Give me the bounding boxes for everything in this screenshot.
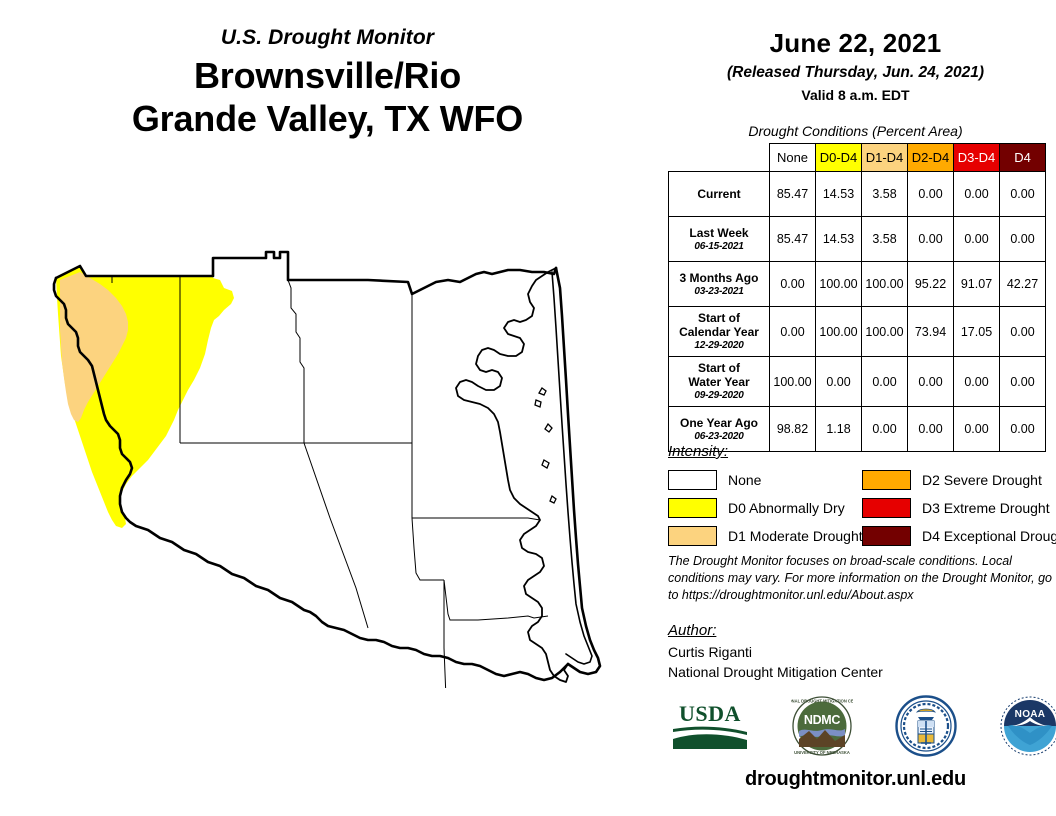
page-title-line2: Grande Valley, TX WFO [0,98,655,140]
map-title-block: U.S. Drought Monitor Brownsville/Rio Gra… [0,26,655,140]
table-cell: 73.94 [908,307,954,357]
table-cell: 0.00 [954,172,1000,217]
table-header-row: NoneD0-D4D1-D4D2-D4D3-D4D4 [669,144,1046,172]
date-block: June 22, 2021 (Released Thursday, Jun. 2… [655,28,1056,103]
table-cell: 85.47 [770,172,816,217]
table-row: Start ofCalendar Year12-29-20200.00100.0… [669,307,1046,357]
table-cell: 0.00 [1000,172,1046,217]
legend-swatch [668,498,717,518]
table-cell: 3.58 [862,172,908,217]
table-cell: 0.00 [770,262,816,307]
table-cell: 100.00 [816,307,862,357]
table-col-header-none: None [770,144,816,172]
table-cell: 14.53 [816,172,862,217]
table-cell: 100.00 [816,262,862,307]
table-cell: 0.00 [816,357,862,407]
noaa-logo: NOAA [999,695,1056,762]
table-row-date: 06-23-2020 [671,431,767,443]
legend-label: D4 Exceptional Drought [922,528,1056,544]
author-name: Curtis Riganti [668,643,1056,663]
table-row-date: 09-29-2020 [671,390,767,402]
legend-label: D0 Abnormally Dry [728,500,845,516]
table-cell: 91.07 [954,262,1000,307]
table-cell: 0.00 [1000,357,1046,407]
table-cell: 100.00 [862,262,908,307]
table-row: 3 Months Ago03-23-20210.00100.00100.0095… [669,262,1046,307]
table-col-header-d2-d4: D2-D4 [908,144,954,172]
intensity-legend-title: Intensity: [668,443,1056,460]
usda-logo: USDA [671,699,749,758]
table-cell: 95.22 [908,262,954,307]
legend-swatch [862,498,911,518]
svg-text:USDA: USDA [679,701,741,726]
legend-item: D2 Severe Drought [862,467,1056,492]
table-cell: 100.00 [862,307,908,357]
website-url[interactable]: droughtmonitor.unl.edu [655,768,1056,791]
table-cell: 0.00 [954,217,1000,262]
legend-swatch [668,470,717,490]
legend-label: D2 Severe Drought [922,472,1042,488]
table-col-header-d1-d4: D1-D4 [862,144,908,172]
legend-label: D3 Extreme Drought [922,500,1050,516]
page-title-line1: Brownsville/Rio [194,55,461,96]
legend-item: D4 Exceptional Drought [862,523,1056,548]
table-cell: 0.00 [908,357,954,407]
table-col-header-d3-d4: D3-D4 [954,144,1000,172]
svg-text:NDMC: NDMC [804,713,841,727]
legend-label: D1 Moderate Drought [728,528,863,544]
laguna-islets [535,388,556,503]
author-affiliation: National Drought Mitigation Center [668,663,1056,683]
svg-text:NATIONAL DROUGHT MITIGATION CE: NATIONAL DROUGHT MITIGATION CENTER [791,698,853,703]
table-row-label: Start ofWater Year09-29-2020 [669,357,770,407]
table-cell: 0.00 [954,357,1000,407]
table-cell: 100.00 [770,357,816,407]
table-cell: 0.00 [908,172,954,217]
table-cell: 0.00 [862,357,908,407]
svg-text:NOAA: NOAA [1015,709,1046,720]
table-cell: 3.58 [862,217,908,262]
logo-strip: USDA NDMC NATIONAL DROUGHT MITIGATION CE… [665,690,1056,766]
table-cell: 85.47 [770,217,816,262]
table-cell: 14.53 [816,217,862,262]
legend-swatch [862,470,911,490]
table-row-date: 12-29-2020 [671,340,767,352]
svg-text:UNIVERSITY OF NEBRASKA: UNIVERSITY OF NEBRASKA [794,750,850,755]
table-col-header-d4: D4 [1000,144,1046,172]
map-svg [8,228,656,688]
table-row-date: 03-23-2021 [671,286,767,298]
page-title: Brownsville/Rio Grande Valley, TX WFO [0,55,655,140]
legend-item: D1 Moderate Drought [668,523,862,548]
legend-item: None [668,467,862,492]
legend-item: D3 Extreme Drought [862,495,1056,520]
table-row-label: Last Week06-15-2021 [669,217,770,262]
table-cell: 0.00 [1000,217,1046,262]
table-corner-cell [669,144,770,172]
table-col-header-d0-d4: D0-D4 [816,144,862,172]
legend-swatch [862,526,911,546]
author-label: Author: [668,622,1056,639]
drought-map[interactable] [8,228,656,688]
legend-item: D0 Abnormally Dry [668,495,862,520]
table-row-date: 06-15-2021 [671,241,767,253]
release-date: (Released Thursday, Jun. 24, 2021) [655,64,1056,82]
ndmc-logo: NDMC NATIONAL DROUGHT MITIGATION CENTER … [791,695,853,762]
table-caption: Drought Conditions (Percent Area) [655,123,1056,139]
table-body: Current85.4714.533.580.000.000.00Last We… [669,172,1046,452]
legend-label: None [728,472,761,488]
table-row: Last Week06-15-202185.4714.533.580.000.0… [669,217,1046,262]
legend-column-right: D2 Severe DroughtD3 Extreme DroughtD4 Ex… [862,467,1056,551]
table-row: Current85.4714.533.580.000.000.00 [669,172,1046,217]
table-cell: 0.00 [1000,307,1046,357]
table-cell: 0.00 [908,217,954,262]
table-row-label: Start ofCalendar Year12-29-2020 [669,307,770,357]
table-row-label: 3 Months Ago03-23-2021 [669,262,770,307]
valid-time: Valid 8 a.m. EDT [655,87,1056,103]
table-cell: 17.05 [954,307,1000,357]
drought-conditions-table: NoneD0-D4D1-D4D2-D4D3-D4D4 Current85.471… [668,143,1046,452]
usda-seal-logo [895,695,957,762]
drought-monitor-page: U.S. Drought Monitor Brownsville/Rio Gra… [0,0,1056,816]
legend-column-left: NoneD0 Abnormally DryD1 Moderate Drought [668,467,862,551]
info-panel: June 22, 2021 (Released Thursday, Jun. 2… [655,0,1056,816]
author-block: Author: Curtis Riganti National Drought … [668,622,1056,683]
product-name: U.S. Drought Monitor [0,26,655,49]
table-cell: 0.00 [770,307,816,357]
valid-date: June 22, 2021 [655,28,1056,59]
legend-swatch [668,526,717,546]
table-row-label: Current [669,172,770,217]
disclaimer-text: The Drought Monitor focuses on broad-sca… [668,553,1056,604]
table-cell: 42.27 [1000,262,1046,307]
table-row: Start ofWater Year09-29-2020100.000.000.… [669,357,1046,407]
intensity-legend: Intensity: NoneD0 Abnormally DryD1 Moder… [668,443,1056,551]
